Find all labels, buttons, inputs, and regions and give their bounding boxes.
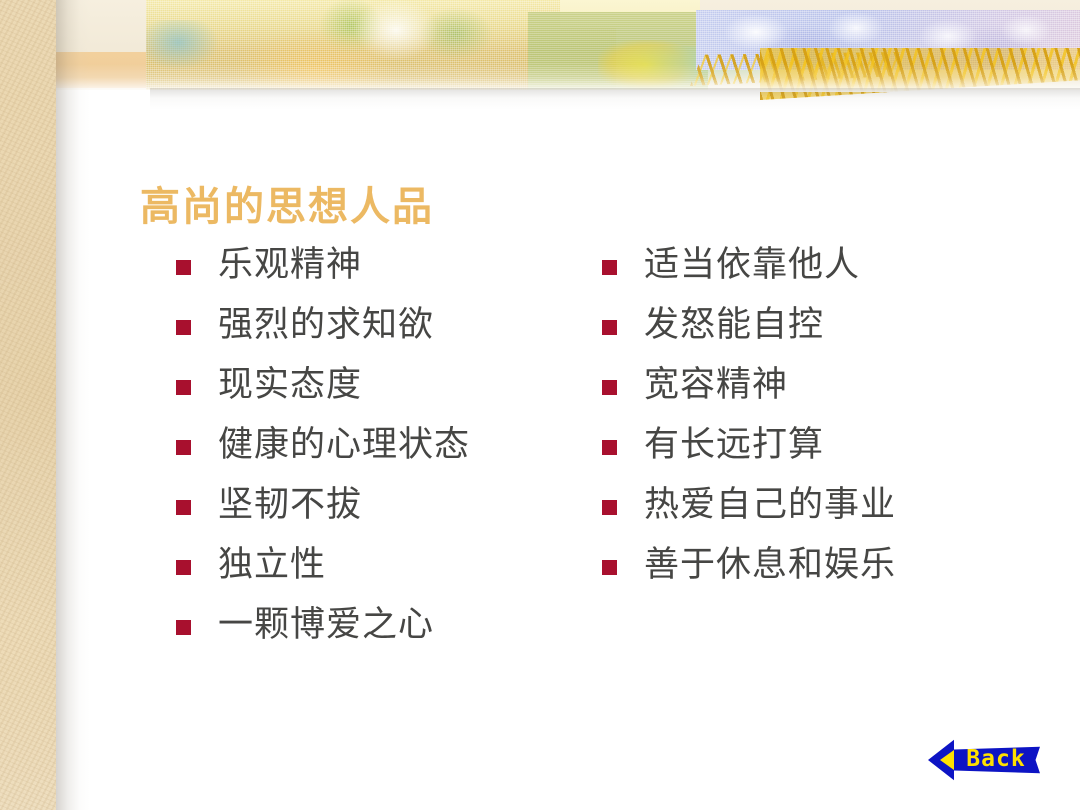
- list-item-label: 宽容精神: [644, 364, 788, 407]
- back-button[interactable]: Back: [928, 738, 1040, 782]
- bullet-column-left: 乐观精神 强烈的求知欲 现实态度 健康的心理状态 坚韧不拔: [176, 244, 576, 664]
- list-item-label: 发怒能自控: [644, 304, 824, 347]
- list-item-label: 健康的心理状态: [218, 424, 470, 467]
- list-item[interactable]: 热爱自己的事业: [602, 484, 1022, 544]
- list-item[interactable]: 一颗博爱之心: [176, 604, 576, 664]
- list-item[interactable]: 现实态度: [176, 364, 576, 424]
- list-item-label: 现实态度: [218, 364, 362, 407]
- square-bullet-icon: [176, 560, 191, 575]
- list-item[interactable]: 乐观精神: [176, 244, 576, 304]
- list-item-label: 独立性: [218, 544, 326, 587]
- list-item[interactable]: 发怒能自控: [602, 304, 1022, 364]
- list-item-label: 乐观精神: [218, 244, 362, 287]
- square-bullet-icon: [602, 320, 617, 335]
- list-item[interactable]: 独立性: [176, 544, 576, 604]
- square-bullet-icon: [602, 380, 617, 395]
- square-bullet-icon: [176, 320, 191, 335]
- square-bullet-icon: [176, 620, 191, 635]
- page-title: 高尚的思想人品: [140, 174, 434, 232]
- square-bullet-icon: [602, 260, 617, 275]
- square-bullet-icon: [176, 260, 191, 275]
- square-bullet-icon: [176, 380, 191, 395]
- square-bullet-icon: [602, 560, 617, 575]
- list-item[interactable]: 善于休息和娱乐: [602, 544, 1022, 604]
- list-item[interactable]: 坚韧不拔: [176, 484, 576, 544]
- slide-canvas: 高尚的思想人品 乐观精神 强烈的求知欲 现实态度 健康的心理状态: [0, 0, 1080, 810]
- square-bullet-icon: [176, 500, 191, 515]
- list-item-label: 坚韧不拔: [218, 484, 362, 527]
- list-item-label: 有长远打算: [644, 424, 824, 467]
- list-item-label: 适当依靠他人: [644, 244, 860, 287]
- square-bullet-icon: [602, 500, 617, 515]
- list-item[interactable]: 有长远打算: [602, 424, 1022, 484]
- list-item[interactable]: 健康的心理状态: [176, 424, 576, 484]
- square-bullet-icon: [602, 440, 617, 455]
- list-item[interactable]: 强烈的求知欲: [176, 304, 576, 364]
- back-button-label: Back: [960, 747, 1032, 772]
- square-bullet-icon: [176, 440, 191, 455]
- list-item-label: 一颗博爱之心: [218, 604, 434, 647]
- list-item-label: 热爱自己的事业: [644, 484, 896, 527]
- list-item-label: 善于休息和娱乐: [644, 544, 896, 587]
- list-item[interactable]: 宽容精神: [602, 364, 1022, 424]
- list-item[interactable]: 适当依靠他人: [602, 244, 1022, 304]
- slide-content: 高尚的思想人品 乐观精神 强烈的求知欲 现实态度 健康的心理状态: [0, 92, 1080, 810]
- floral-wheat-banner: [0, 0, 1080, 92]
- bullet-column-right: 适当依靠他人 发怒能自控 宽容精神 有长远打算 热爱自己的事业: [602, 244, 1022, 604]
- triangle-icon: [940, 750, 954, 770]
- list-item-label: 强烈的求知欲: [218, 304, 434, 347]
- banner-teal-patch: [146, 20, 218, 70]
